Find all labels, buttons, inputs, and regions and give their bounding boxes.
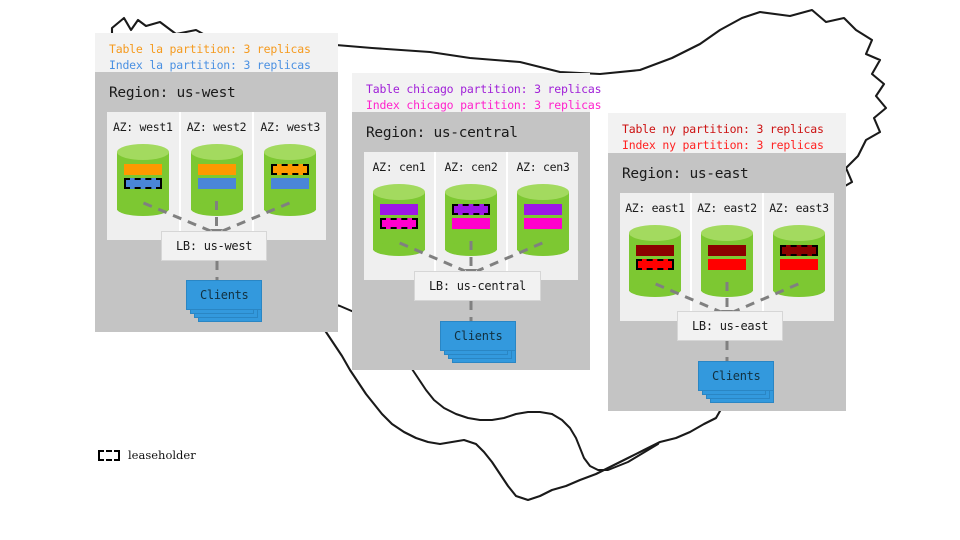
legend-label: leaseholder xyxy=(128,448,196,462)
replica-band-leaseholder xyxy=(636,259,674,270)
replica-band xyxy=(636,245,674,256)
cylinder-top xyxy=(629,225,681,241)
clients-stack-us-central[interactable]: Clients xyxy=(440,321,520,361)
cylinder-top xyxy=(773,225,825,241)
replica-band-leaseholder xyxy=(452,204,490,215)
az-label: AZ: west2 xyxy=(181,120,253,134)
partition-header-line: Table chicago partition: 3 replicas xyxy=(366,82,576,98)
partition-header-line: Index ny partition: 3 replicas xyxy=(622,138,832,154)
replica-band xyxy=(271,178,309,189)
clients-label[interactable]: Clients xyxy=(186,280,262,310)
replica-band xyxy=(124,164,162,175)
partition-header-line: Table ny partition: 3 replicas xyxy=(622,122,832,138)
partition-header-line: Index chicago partition: 3 replicas xyxy=(366,98,576,114)
az-label: AZ: cen1 xyxy=(364,160,434,174)
partition-header-us-west: Table la partition: 3 replicasIndex la p… xyxy=(95,33,338,72)
partition-header-us-central: Table chicago partition: 3 replicasIndex… xyxy=(352,73,590,112)
partition-header-line: Table la partition: 3 replicas xyxy=(109,42,324,58)
load-balancer-us-central[interactable]: LB: us-central xyxy=(414,271,541,301)
clients-label[interactable]: Clients xyxy=(440,321,516,351)
clients-stack-us-east[interactable]: Clients xyxy=(698,361,778,401)
az-label: AZ: cen2 xyxy=(436,160,506,174)
replica-band-leaseholder xyxy=(124,178,162,189)
az-label: AZ: east2 xyxy=(692,201,762,215)
replica-band xyxy=(198,164,236,175)
replica-band xyxy=(452,218,490,229)
leaseholder-dashed-rect-icon xyxy=(98,450,120,461)
az-label: AZ: east3 xyxy=(764,201,834,215)
cylinder-top xyxy=(117,144,169,160)
cylinder-top xyxy=(264,144,316,160)
partition-header-line: Index la partition: 3 replicas xyxy=(109,58,324,74)
replica-band xyxy=(708,245,746,256)
replica-band xyxy=(198,178,236,189)
cylinder-top xyxy=(445,184,497,200)
replica-band xyxy=(524,218,562,229)
load-balancer-us-west[interactable]: LB: us-west xyxy=(161,231,267,261)
replica-band xyxy=(524,204,562,215)
replica-band xyxy=(780,259,818,270)
replica-band-leaseholder xyxy=(271,164,309,175)
region-title: Region: us-east xyxy=(608,153,846,193)
legend: leaseholder xyxy=(98,448,196,462)
region-title: Region: us-west xyxy=(95,72,338,112)
replica-band xyxy=(708,259,746,270)
replica-band-leaseholder xyxy=(780,245,818,256)
cylinder-top xyxy=(191,144,243,160)
az-label: AZ: east1 xyxy=(620,201,690,215)
region-title: Region: us-central xyxy=(352,112,590,152)
az-label: AZ: west3 xyxy=(254,120,326,134)
cylinder-top xyxy=(701,225,753,241)
clients-stack-us-west[interactable]: Clients xyxy=(186,280,266,320)
az-label: AZ: cen3 xyxy=(508,160,578,174)
replica-band xyxy=(380,204,418,215)
cylinder-top xyxy=(373,184,425,200)
clients-label[interactable]: Clients xyxy=(698,361,774,391)
az-label: AZ: west1 xyxy=(107,120,179,134)
partition-header-us-east: Table ny partition: 3 replicasIndex ny p… xyxy=(608,113,846,153)
cylinder-top xyxy=(517,184,569,200)
replica-band-leaseholder xyxy=(380,218,418,229)
load-balancer-us-east[interactable]: LB: us-east xyxy=(677,311,783,341)
